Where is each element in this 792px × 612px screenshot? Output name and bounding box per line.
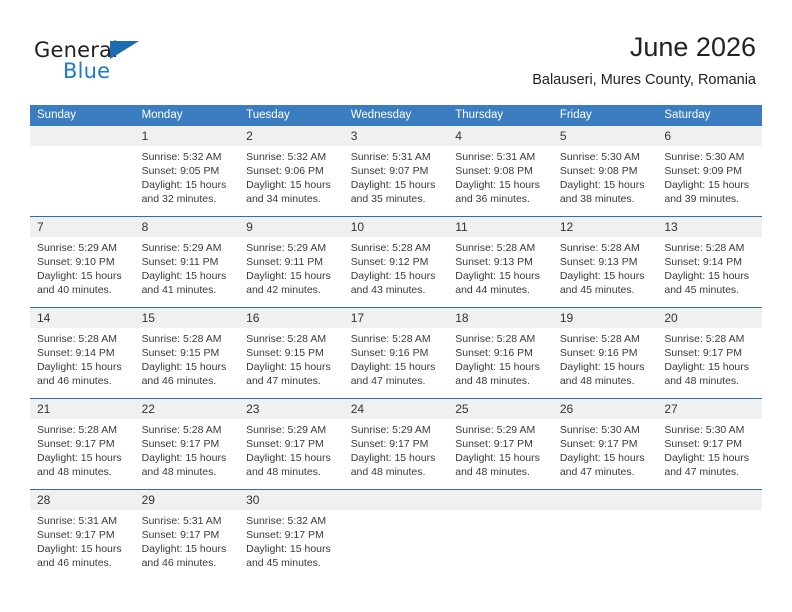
sunset-text: Sunset: 9:13 PM [560,255,652,269]
daylight-text-line1: Daylight: 15 hours [351,451,443,465]
calendar-week-row: 21Sunrise: 5:28 AMSunset: 9:17 PMDayligh… [30,399,762,490]
calendar-week-row: 7Sunrise: 5:29 AMSunset: 9:10 PMDaylight… [30,217,762,308]
sunrise-text: Sunrise: 5:29 AM [246,423,338,437]
day-details: Sunrise: 5:31 AMSunset: 9:08 PMDaylight:… [448,146,553,206]
daylight-text-line1: Daylight: 15 hours [37,542,129,556]
day-details: Sunrise: 5:28 AMSunset: 9:17 PMDaylight:… [135,419,240,479]
sunset-text: Sunset: 9:16 PM [455,346,547,360]
calendar-day-cell[interactable]: 28Sunrise: 5:31 AMSunset: 9:17 PMDayligh… [30,490,135,581]
day-number: 10 [344,217,449,237]
day-number: 3 [344,126,449,146]
sunset-text: Sunset: 9:12 PM [351,255,443,269]
day-cell-inner: 7Sunrise: 5:29 AMSunset: 9:10 PMDaylight… [30,217,135,306]
sunset-text: Sunset: 9:09 PM [664,164,756,178]
sunset-text: Sunset: 9:17 PM [37,437,129,451]
sunrise-text: Sunrise: 5:29 AM [351,423,443,437]
day-number: 9 [239,217,344,237]
day-details: Sunrise: 5:30 AMSunset: 9:17 PMDaylight:… [553,419,658,479]
sunrise-text: Sunrise: 5:28 AM [560,332,652,346]
daylight-text-line1: Daylight: 15 hours [37,360,129,374]
calendar-table: Sunday Monday Tuesday Wednesday Thursday… [30,105,762,580]
calendar-day-cell[interactable]: 13Sunrise: 5:28 AMSunset: 9:14 PMDayligh… [657,217,762,308]
daylight-text-line1: Daylight: 15 hours [142,451,234,465]
sunset-text: Sunset: 9:15 PM [142,346,234,360]
day-details: Sunrise: 5:28 AMSunset: 9:16 PMDaylight:… [448,328,553,388]
calendar-body: 1Sunrise: 5:32 AMSunset: 9:05 PMDaylight… [30,126,762,580]
day-details: Sunrise: 5:29 AMSunset: 9:17 PMDaylight:… [448,419,553,479]
calendar-day-cell[interactable]: 22Sunrise: 5:28 AMSunset: 9:17 PMDayligh… [135,399,240,490]
day-details: Sunrise: 5:31 AMSunset: 9:07 PMDaylight:… [344,146,449,206]
calendar-day-cell[interactable]: 2Sunrise: 5:32 AMSunset: 9:06 PMDaylight… [239,126,344,217]
calendar-cell-empty [448,490,553,581]
day-cell-inner: 13Sunrise: 5:28 AMSunset: 9:14 PMDayligh… [657,217,762,306]
calendar-day-cell[interactable]: 6Sunrise: 5:30 AMSunset: 9:09 PMDaylight… [657,126,762,217]
calendar-day-cell[interactable]: 3Sunrise: 5:31 AMSunset: 9:07 PMDaylight… [344,126,449,217]
day-details: Sunrise: 5:29 AMSunset: 9:11 PMDaylight:… [239,237,344,297]
calendar-day-cell[interactable]: 24Sunrise: 5:29 AMSunset: 9:17 PMDayligh… [344,399,449,490]
day-cell-inner: 6Sunrise: 5:30 AMSunset: 9:09 PMDaylight… [657,126,762,215]
day-number: 8 [135,217,240,237]
daylight-text-line2: and 39 minutes. [664,192,756,206]
sunset-text: Sunset: 9:06 PM [246,164,338,178]
sunset-text: Sunset: 9:17 PM [246,528,338,542]
sunset-text: Sunset: 9:13 PM [455,255,547,269]
weekday-header-saturday: Saturday [657,105,762,126]
day-cell-inner: 16Sunrise: 5:28 AMSunset: 9:15 PMDayligh… [239,308,344,397]
daylight-text-line1: Daylight: 15 hours [37,451,129,465]
sunset-text: Sunset: 9:07 PM [351,164,443,178]
calendar-day-cell[interactable]: 29Sunrise: 5:31 AMSunset: 9:17 PMDayligh… [135,490,240,581]
day-cell-inner: 23Sunrise: 5:29 AMSunset: 9:17 PMDayligh… [239,399,344,488]
day-number: 29 [135,490,240,510]
sunrise-text: Sunrise: 5:28 AM [142,332,234,346]
day-number: 15 [135,308,240,328]
daylight-text-line1: Daylight: 15 hours [142,542,234,556]
day-details: Sunrise: 5:28 AMSunset: 9:14 PMDaylight:… [657,237,762,297]
weekday-header-monday: Monday [135,105,240,126]
day-cell-inner: 15Sunrise: 5:28 AMSunset: 9:15 PMDayligh… [135,308,240,397]
daylight-text-line2: and 47 minutes. [246,374,338,388]
weekday-header-thursday: Thursday [448,105,553,126]
sunset-text: Sunset: 9:08 PM [560,164,652,178]
sunset-text: Sunset: 9:17 PM [664,437,756,451]
day-details: Sunrise: 5:31 AMSunset: 9:17 PMDaylight:… [30,510,135,570]
sunrise-text: Sunrise: 5:28 AM [37,423,129,437]
daylight-text-line2: and 48 minutes. [37,465,129,479]
daylight-text-line2: and 47 minutes. [560,465,652,479]
day-cell-inner: 21Sunrise: 5:28 AMSunset: 9:17 PMDayligh… [30,399,135,488]
daylight-text-line1: Daylight: 15 hours [37,269,129,283]
daylight-text-line1: Daylight: 15 hours [246,178,338,192]
daylight-text-line1: Daylight: 15 hours [560,360,652,374]
day-number: 18 [448,308,553,328]
day-details: Sunrise: 5:28 AMSunset: 9:14 PMDaylight:… [30,328,135,388]
weekday-header-wednesday: Wednesday [344,105,449,126]
triangle-icon [110,41,139,59]
calendar-cell-empty [344,490,449,581]
day-number: 23 [239,399,344,419]
daylight-text-line1: Daylight: 15 hours [664,360,756,374]
day-details: Sunrise: 5:28 AMSunset: 9:15 PMDaylight:… [239,328,344,388]
day-number [344,490,449,510]
daylight-text-line1: Daylight: 15 hours [246,542,338,556]
daylight-text-line2: and 41 minutes. [142,283,234,297]
logo-text-blue: Blue [63,59,110,83]
calendar-day-cell[interactable]: 10Sunrise: 5:28 AMSunset: 9:12 PMDayligh… [344,217,449,308]
sunset-text: Sunset: 9:11 PM [246,255,338,269]
day-cell-inner: 10Sunrise: 5:28 AMSunset: 9:12 PMDayligh… [344,217,449,306]
daylight-text-line2: and 48 minutes. [455,465,547,479]
day-cell-inner: 11Sunrise: 5:28 AMSunset: 9:13 PMDayligh… [448,217,553,306]
day-cell-inner: 12Sunrise: 5:28 AMSunset: 9:13 PMDayligh… [553,217,658,306]
day-cell-inner: 18Sunrise: 5:28 AMSunset: 9:16 PMDayligh… [448,308,553,397]
day-details: Sunrise: 5:30 AMSunset: 9:17 PMDaylight:… [657,419,762,479]
day-details: Sunrise: 5:29 AMSunset: 9:17 PMDaylight:… [239,419,344,479]
sunset-text: Sunset: 9:11 PM [142,255,234,269]
daylight-text-line1: Daylight: 15 hours [664,269,756,283]
sunset-text: Sunset: 9:05 PM [142,164,234,178]
daylight-text-line2: and 47 minutes. [664,465,756,479]
sunrise-text: Sunrise: 5:28 AM [246,332,338,346]
sunset-text: Sunset: 9:17 PM [560,437,652,451]
weekday-header-friday: Friday [553,105,658,126]
sunrise-text: Sunrise: 5:28 AM [351,241,443,255]
sunset-text: Sunset: 9:14 PM [37,346,129,360]
day-cell-inner: 20Sunrise: 5:28 AMSunset: 9:17 PMDayligh… [657,308,762,397]
day-number [30,126,135,146]
daylight-text-line2: and 35 minutes. [351,192,443,206]
day-cell-inner: 19Sunrise: 5:28 AMSunset: 9:16 PMDayligh… [553,308,658,397]
calendar-day-cell[interactable]: 1Sunrise: 5:32 AMSunset: 9:05 PMDaylight… [135,126,240,217]
sunset-text: Sunset: 9:14 PM [664,255,756,269]
calendar-day-cell[interactable]: 20Sunrise: 5:28 AMSunset: 9:17 PMDayligh… [657,308,762,399]
sunrise-text: Sunrise: 5:28 AM [37,332,129,346]
sunrise-text: Sunrise: 5:30 AM [560,150,652,164]
day-cell-inner: 9Sunrise: 5:29 AMSunset: 9:11 PMDaylight… [239,217,344,306]
daylight-text-line2: and 48 minutes. [455,374,547,388]
page-subtitle: Balauseri, Mures County, Romania [532,70,756,90]
day-cell-inner: 22Sunrise: 5:28 AMSunset: 9:17 PMDayligh… [135,399,240,488]
day-details: Sunrise: 5:28 AMSunset: 9:17 PMDaylight:… [657,328,762,388]
calendar-day-cell[interactable]: 21Sunrise: 5:28 AMSunset: 9:17 PMDayligh… [30,399,135,490]
calendar-day-cell[interactable]: 18Sunrise: 5:28 AMSunset: 9:16 PMDayligh… [448,308,553,399]
daylight-text-line1: Daylight: 15 hours [664,451,756,465]
daylight-text-line1: Daylight: 15 hours [664,178,756,192]
calendar-page: General Blue June 2026 Balauseri, Mures … [0,0,792,612]
day-number: 22 [135,399,240,419]
daylight-text-line2: and 46 minutes. [37,556,129,570]
day-cell-inner [657,490,762,579]
daylight-text-line2: and 48 minutes. [560,374,652,388]
sunrise-text: Sunrise: 5:31 AM [142,514,234,528]
day-cell-inner: 27Sunrise: 5:30 AMSunset: 9:17 PMDayligh… [657,399,762,488]
sunrise-text: Sunrise: 5:30 AM [560,423,652,437]
calendar-day-cell[interactable]: 30Sunrise: 5:32 AMSunset: 9:17 PMDayligh… [239,490,344,581]
daylight-text-line2: and 46 minutes. [142,556,234,570]
sunset-text: Sunset: 9:16 PM [351,346,443,360]
day-details: Sunrise: 5:29 AMSunset: 9:10 PMDaylight:… [30,237,135,297]
day-cell-inner: 2Sunrise: 5:32 AMSunset: 9:06 PMDaylight… [239,126,344,215]
sunrise-text: Sunrise: 5:28 AM [351,332,443,346]
calendar-header-row: Sunday Monday Tuesday Wednesday Thursday… [30,105,762,126]
weekday-header-tuesday: Tuesday [239,105,344,126]
calendar-cell-empty [657,490,762,581]
daylight-text-line2: and 48 minutes. [351,465,443,479]
day-cell-inner [30,126,135,215]
day-number: 20 [657,308,762,328]
daylight-text-line2: and 45 minutes. [246,556,338,570]
day-cell-inner [344,490,449,579]
calendar-day-cell[interactable]: 17Sunrise: 5:28 AMSunset: 9:16 PMDayligh… [344,308,449,399]
daylight-text-line2: and 43 minutes. [351,283,443,297]
sunrise-text: Sunrise: 5:29 AM [455,423,547,437]
daylight-text-line1: Daylight: 15 hours [560,178,652,192]
sunrise-text: Sunrise: 5:29 AM [142,241,234,255]
sunset-text: Sunset: 9:17 PM [142,528,234,542]
sunrise-text: Sunrise: 5:30 AM [664,150,756,164]
title-block: June 2026 Balauseri, Mures County, Roman… [532,30,756,90]
daylight-text-line2: and 48 minutes. [246,465,338,479]
calendar-day-cell[interactable]: 11Sunrise: 5:28 AMSunset: 9:13 PMDayligh… [448,217,553,308]
calendar-day-cell[interactable]: 14Sunrise: 5:28 AMSunset: 9:14 PMDayligh… [30,308,135,399]
weekday-header-row: Sunday Monday Tuesday Wednesday Thursday… [30,105,762,126]
day-cell-inner: 26Sunrise: 5:30 AMSunset: 9:17 PMDayligh… [553,399,658,488]
daylight-text-line2: and 42 minutes. [246,283,338,297]
daylight-text-line1: Daylight: 15 hours [560,451,652,465]
day-number: 4 [448,126,553,146]
day-cell-inner: 3Sunrise: 5:31 AMSunset: 9:07 PMDaylight… [344,126,449,215]
sunrise-text: Sunrise: 5:28 AM [455,332,547,346]
sunrise-text: Sunrise: 5:31 AM [455,150,547,164]
day-number: 24 [344,399,449,419]
weekday-header-sunday: Sunday [30,105,135,126]
day-details: Sunrise: 5:30 AMSunset: 9:08 PMDaylight:… [553,146,658,206]
sunset-text: Sunset: 9:17 PM [246,437,338,451]
calendar-day-cell[interactable]: 15Sunrise: 5:28 AMSunset: 9:15 PMDayligh… [135,308,240,399]
daylight-text-line1: Daylight: 15 hours [455,360,547,374]
day-details: Sunrise: 5:28 AMSunset: 9:12 PMDaylight:… [344,237,449,297]
sunset-text: Sunset: 9:17 PM [351,437,443,451]
daylight-text-line1: Daylight: 15 hours [351,178,443,192]
calendar-day-cell[interactable]: 19Sunrise: 5:28 AMSunset: 9:16 PMDayligh… [553,308,658,399]
daylight-text-line1: Daylight: 15 hours [455,451,547,465]
daylight-text-line2: and 32 minutes. [142,192,234,206]
day-number: 5 [553,126,658,146]
day-details: Sunrise: 5:28 AMSunset: 9:16 PMDaylight:… [553,328,658,388]
day-number: 1 [135,126,240,146]
day-cell-inner: 14Sunrise: 5:28 AMSunset: 9:14 PMDayligh… [30,308,135,397]
calendar-week-row: 28Sunrise: 5:31 AMSunset: 9:17 PMDayligh… [30,490,762,581]
day-number: 14 [30,308,135,328]
calendar-day-cell[interactable]: 25Sunrise: 5:29 AMSunset: 9:17 PMDayligh… [448,399,553,490]
sunrise-text: Sunrise: 5:28 AM [142,423,234,437]
daylight-text-line1: Daylight: 15 hours [455,178,547,192]
daylight-text-line1: Daylight: 15 hours [246,451,338,465]
sunset-text: Sunset: 9:15 PM [246,346,338,360]
daylight-text-line2: and 46 minutes. [37,374,129,388]
day-number: 19 [553,308,658,328]
sunrise-text: Sunrise: 5:29 AM [246,241,338,255]
day-cell-inner: 25Sunrise: 5:29 AMSunset: 9:17 PMDayligh… [448,399,553,488]
daylight-text-line2: and 38 minutes. [560,192,652,206]
day-cell-inner: 28Sunrise: 5:31 AMSunset: 9:17 PMDayligh… [30,490,135,579]
day-number: 13 [657,217,762,237]
daylight-text-line1: Daylight: 15 hours [455,269,547,283]
day-number: 17 [344,308,449,328]
daylight-text-line1: Daylight: 15 hours [246,269,338,283]
day-details: Sunrise: 5:28 AMSunset: 9:13 PMDaylight:… [553,237,658,297]
day-number: 6 [657,126,762,146]
day-cell-inner [553,490,658,579]
daylight-text-line1: Daylight: 15 hours [142,178,234,192]
day-number [553,490,658,510]
day-number: 11 [448,217,553,237]
sunset-text: Sunset: 9:17 PM [37,528,129,542]
sunset-text: Sunset: 9:17 PM [664,346,756,360]
day-number [657,490,762,510]
day-number: 25 [448,399,553,419]
day-cell-inner: 17Sunrise: 5:28 AMSunset: 9:16 PMDayligh… [344,308,449,397]
calendar-day-cell[interactable]: 5Sunrise: 5:30 AMSunset: 9:08 PMDaylight… [553,126,658,217]
sunrise-text: Sunrise: 5:31 AM [37,514,129,528]
daylight-text-line2: and 47 minutes. [351,374,443,388]
day-cell-inner: 5Sunrise: 5:30 AMSunset: 9:08 PMDaylight… [553,126,658,215]
day-number: 26 [553,399,658,419]
sunset-text: Sunset: 9:08 PM [455,164,547,178]
daylight-text-line1: Daylight: 15 hours [560,269,652,283]
day-details: Sunrise: 5:31 AMSunset: 9:17 PMDaylight:… [135,510,240,570]
daylight-text-line2: and 36 minutes. [455,192,547,206]
day-number: 7 [30,217,135,237]
daylight-text-line2: and 45 minutes. [664,283,756,297]
day-number: 2 [239,126,344,146]
sunrise-text: Sunrise: 5:28 AM [560,241,652,255]
sunrise-text: Sunrise: 5:30 AM [664,423,756,437]
calendar-week-row: 14Sunrise: 5:28 AMSunset: 9:14 PMDayligh… [30,308,762,399]
sunrise-text: Sunrise: 5:29 AM [37,241,129,255]
day-details: Sunrise: 5:30 AMSunset: 9:09 PMDaylight:… [657,146,762,206]
calendar-day-cell[interactable]: 7Sunrise: 5:29 AMSunset: 9:10 PMDaylight… [30,217,135,308]
calendar-day-cell[interactable]: 8Sunrise: 5:29 AMSunset: 9:11 PMDaylight… [135,217,240,308]
day-number: 16 [239,308,344,328]
sunrise-text: Sunrise: 5:32 AM [142,150,234,164]
calendar-day-cell[interactable]: 23Sunrise: 5:29 AMSunset: 9:17 PMDayligh… [239,399,344,490]
calendar-cell-empty [553,490,658,581]
sunset-text: Sunset: 9:16 PM [560,346,652,360]
sunrise-text: Sunrise: 5:32 AM [246,514,338,528]
calendar-day-cell[interactable]: 26Sunrise: 5:30 AMSunset: 9:17 PMDayligh… [553,399,658,490]
daylight-text-line2: and 48 minutes. [664,374,756,388]
page-title: June 2026 [532,30,756,64]
sunset-text: Sunset: 9:17 PM [142,437,234,451]
daylight-text-line2: and 48 minutes. [142,465,234,479]
day-cell-inner: 4Sunrise: 5:31 AMSunset: 9:08 PMDaylight… [448,126,553,215]
daylight-text-line2: and 34 minutes. [246,192,338,206]
calendar-day-cell[interactable]: 9Sunrise: 5:29 AMSunset: 9:11 PMDaylight… [239,217,344,308]
calendar-day-cell[interactable]: 4Sunrise: 5:31 AMSunset: 9:08 PMDaylight… [448,126,553,217]
daylight-text-line1: Daylight: 15 hours [351,360,443,374]
day-cell-inner: 29Sunrise: 5:31 AMSunset: 9:17 PMDayligh… [135,490,240,579]
page-header: General Blue June 2026 Balauseri, Mures … [0,0,792,100]
day-details: Sunrise: 5:29 AMSunset: 9:11 PMDaylight:… [135,237,240,297]
day-cell-inner: 8Sunrise: 5:29 AMSunset: 9:11 PMDaylight… [135,217,240,306]
sunset-text: Sunset: 9:17 PM [455,437,547,451]
general-blue-logo[interactable]: General Blue [34,38,154,84]
sunrise-text: Sunrise: 5:28 AM [455,241,547,255]
daylight-text-line1: Daylight: 15 hours [351,269,443,283]
calendar-day-cell[interactable]: 16Sunrise: 5:28 AMSunset: 9:15 PMDayligh… [239,308,344,399]
day-cell-inner: 1Sunrise: 5:32 AMSunset: 9:05 PMDaylight… [135,126,240,215]
day-details: Sunrise: 5:28 AMSunset: 9:15 PMDaylight:… [135,328,240,388]
day-details: Sunrise: 5:32 AMSunset: 9:17 PMDaylight:… [239,510,344,570]
sunrise-text: Sunrise: 5:32 AM [246,150,338,164]
sunrise-text: Sunrise: 5:28 AM [664,241,756,255]
day-cell-inner: 24Sunrise: 5:29 AMSunset: 9:17 PMDayligh… [344,399,449,488]
day-details: Sunrise: 5:28 AMSunset: 9:16 PMDaylight:… [344,328,449,388]
day-number: 27 [657,399,762,419]
day-details: Sunrise: 5:28 AMSunset: 9:17 PMDaylight:… [30,419,135,479]
day-details: Sunrise: 5:28 AMSunset: 9:13 PMDaylight:… [448,237,553,297]
sunset-text: Sunset: 9:10 PM [37,255,129,269]
sunrise-text: Sunrise: 5:28 AM [664,332,756,346]
day-number: 28 [30,490,135,510]
sunrise-text: Sunrise: 5:31 AM [351,150,443,164]
daylight-text-line1: Daylight: 15 hours [142,360,234,374]
daylight-text-line2: and 46 minutes. [142,374,234,388]
daylight-text-line1: Daylight: 15 hours [246,360,338,374]
daylight-text-line1: Daylight: 15 hours [142,269,234,283]
day-number: 21 [30,399,135,419]
calendar-day-cell[interactable]: 12Sunrise: 5:28 AMSunset: 9:13 PMDayligh… [553,217,658,308]
day-number: 30 [239,490,344,510]
daylight-text-line2: and 40 minutes. [37,283,129,297]
daylight-text-line2: and 45 minutes. [560,283,652,297]
calendar-day-cell[interactable]: 27Sunrise: 5:30 AMSunset: 9:17 PMDayligh… [657,399,762,490]
day-details: Sunrise: 5:29 AMSunset: 9:17 PMDaylight:… [344,419,449,479]
day-cell-inner: 30Sunrise: 5:32 AMSunset: 9:17 PMDayligh… [239,490,344,579]
day-number [448,490,553,510]
day-number: 12 [553,217,658,237]
day-cell-inner [448,490,553,579]
day-details: Sunrise: 5:32 AMSunset: 9:05 PMDaylight:… [135,146,240,206]
daylight-text-line2: and 44 minutes. [455,283,547,297]
day-details: Sunrise: 5:32 AMSunset: 9:06 PMDaylight:… [239,146,344,206]
calendar-week-row: 1Sunrise: 5:32 AMSunset: 9:05 PMDaylight… [30,126,762,217]
calendar-cell-empty [30,126,135,217]
